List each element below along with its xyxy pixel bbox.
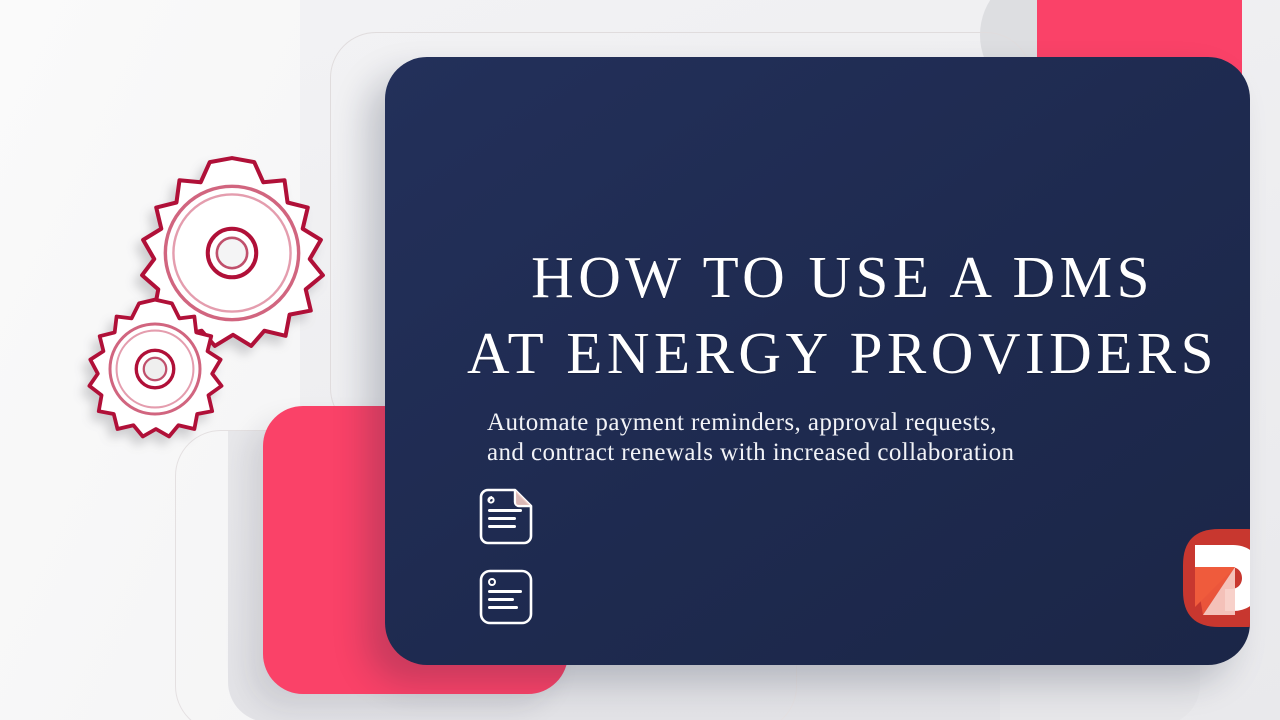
- document-rounded-square-icon: [473, 565, 539, 631]
- subtitle-line-2: and contract renewals with increased col…: [487, 438, 1250, 468]
- document-folded-corner-icon: [473, 485, 539, 551]
- card-content: HOW TO USE A DMS AT ENERGY PROVIDERS Aut…: [435, 57, 1250, 665]
- presentation-slide: HOW TO USE A DMS AT ENERGY PROVIDERS Aut…: [0, 0, 1280, 720]
- gear-small-icon: [80, 294, 230, 444]
- title-line-2: AT ENERGY PROVIDERS: [435, 315, 1250, 391]
- document-icon-group: [473, 485, 539, 645]
- subtitle-line-1: Automate payment reminders, approval req…: [487, 408, 1250, 438]
- page-title: HOW TO USE A DMS AT ENERGY PROVIDERS: [435, 239, 1250, 391]
- page-subtitle: Automate payment reminders, approval req…: [487, 408, 1250, 468]
- brand-logo-d-icon: [1177, 523, 1250, 633]
- main-navy-card: HOW TO USE A DMS AT ENERGY PROVIDERS Aut…: [385, 57, 1250, 665]
- title-line-1: HOW TO USE A DMS: [435, 239, 1250, 315]
